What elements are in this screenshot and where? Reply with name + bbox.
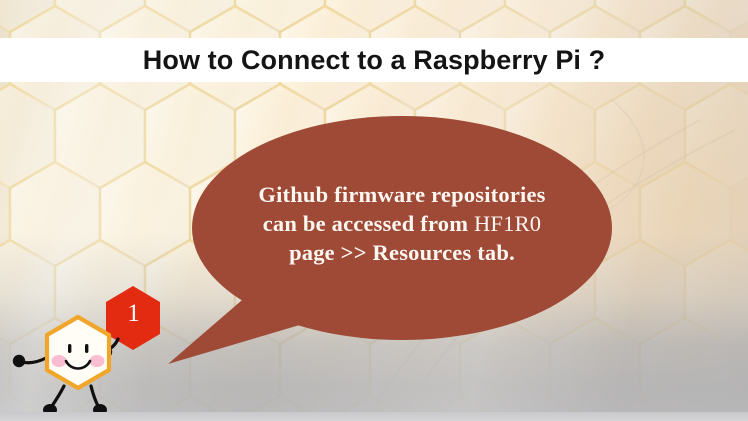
- callout-line-2-prefix: can be accessed from: [263, 211, 474, 236]
- speech-bubble-text: Github firmware repositories can be acce…: [218, 180, 586, 267]
- mascot-left-cheek: [52, 355, 67, 367]
- callout-line-1: Github firmware repositories: [258, 182, 545, 207]
- mascot-left-hand: [13, 355, 25, 367]
- callout-product-code: HF1R0: [474, 211, 541, 236]
- mascot-left-leg: [52, 386, 64, 406]
- page-title: How to Connect to a Raspberry Pi ?: [143, 47, 605, 74]
- mascot-right-eye: [85, 344, 88, 353]
- slide-canvas: How to Connect to a Raspberry Pi ? Githu…: [0, 0, 748, 421]
- title-band: How to Connect to a Raspberry Pi ?: [0, 38, 748, 82]
- mascot-right-cheek: [90, 355, 105, 367]
- callout-line-3: page >> Resources tab.: [289, 240, 515, 265]
- mascot-left-eye: [68, 344, 71, 353]
- mascot-right-leg: [91, 386, 98, 406]
- slide-bottom-strip: [0, 412, 748, 421]
- mascot-left-arm: [22, 358, 46, 363]
- mascot-body: [47, 317, 109, 388]
- step-badge-number: 1: [103, 286, 164, 341]
